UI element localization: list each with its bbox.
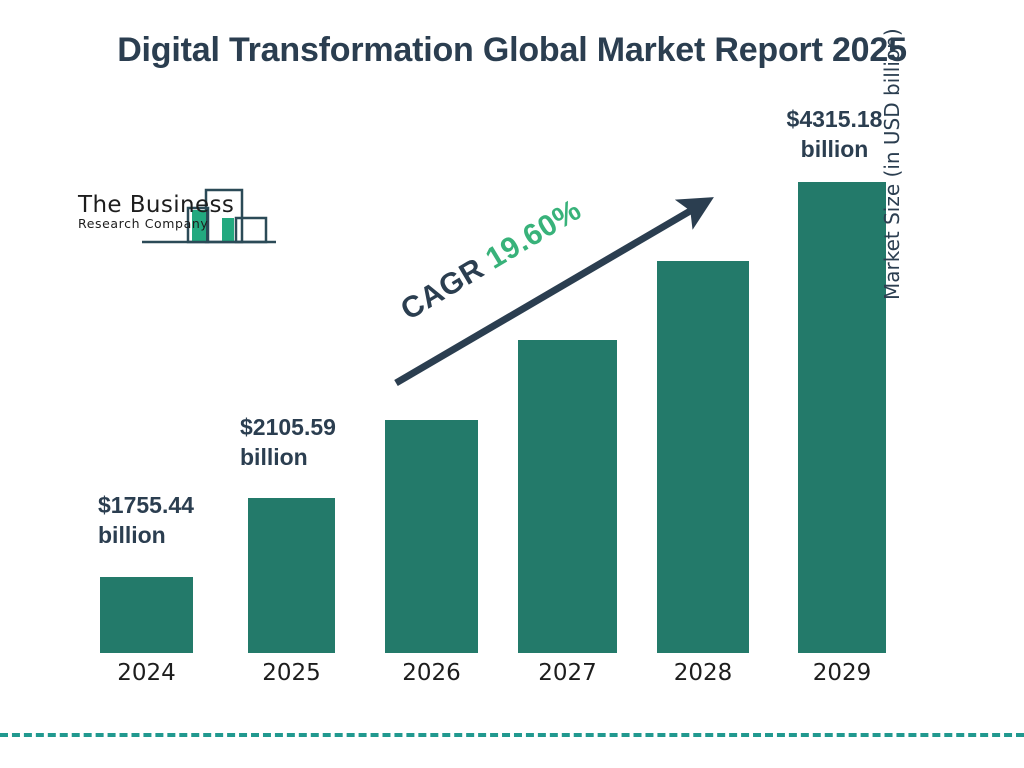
bar-2029 <box>798 182 886 653</box>
x-axis-tick-2024: 2024 <box>75 660 218 686</box>
x-axis-tick-2025: 2025 <box>223 660 360 686</box>
x-axis-tick-2027: 2027 <box>493 660 642 686</box>
x-axis-tick-2029: 2029 <box>773 660 911 686</box>
bottom-divider <box>0 733 1024 737</box>
x-axis-tick-2026: 2026 <box>360 660 503 686</box>
value-label-2024: $1755.44 billion <box>98 490 238 551</box>
bar-2025 <box>248 498 335 653</box>
chart-canvas: Digital Transformation Global Market Rep… <box>0 0 1024 768</box>
bar-2028 <box>657 261 749 653</box>
x-axis-tick-2028: 2028 <box>632 660 774 686</box>
y-axis-title: Market Size (in USD billion) <box>880 0 904 300</box>
bar-2027 <box>518 340 617 653</box>
value-label-2025: $2105.59 billion <box>240 412 385 473</box>
value-label-2029: $4315.18 billion <box>772 104 897 165</box>
bar-2026 <box>385 420 478 653</box>
bar-2024 <box>100 577 193 653</box>
